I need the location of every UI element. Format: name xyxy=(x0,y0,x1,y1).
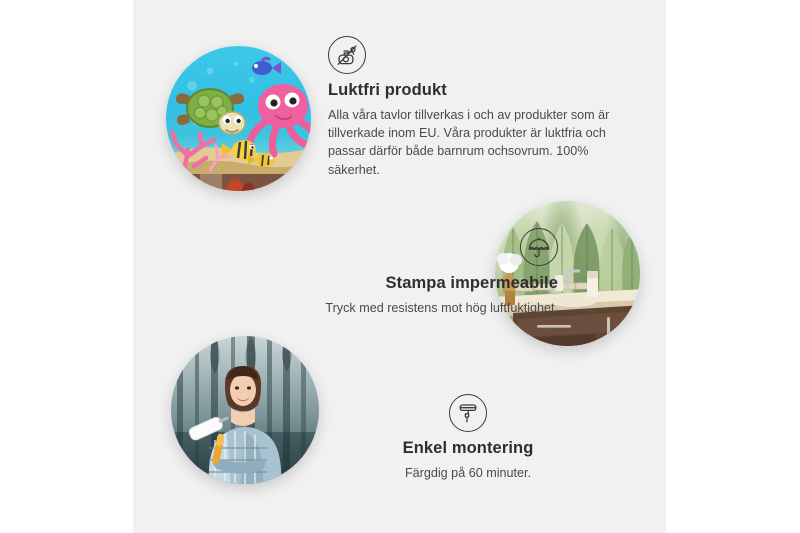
underwater-illustration xyxy=(166,46,311,191)
screenshot-root: Luktfri produkt Alla våra tavlor tillver… xyxy=(0,0,800,533)
feature-waterproof-print: Stampa impermeabile Tryck med resistens … xyxy=(218,228,558,317)
feature-description: Färgdig på 60 minuter. xyxy=(328,464,608,482)
icon-wrap-easy-mounting xyxy=(328,394,608,432)
photo-woman-painter-forest-wallpaper xyxy=(171,336,319,484)
icon-wrap-waterproof xyxy=(218,228,558,266)
forest-painter-illustration xyxy=(171,336,319,484)
product-feature-canvas: Luktfri produkt Alla våra tavlor tillver… xyxy=(133,0,666,533)
feature-title: Enkel montering xyxy=(328,439,608,459)
feature-easy-mounting: Enkel montering Färgdig på 60 minuter. xyxy=(328,394,608,482)
paint-roller-icon xyxy=(449,394,487,432)
feature-description: Alla våra tavlor tillverkas i och av pro… xyxy=(328,106,620,179)
photo-underwater-kids-mural xyxy=(166,46,311,191)
icon-wrap-odour-free xyxy=(328,36,628,74)
no-fragrance-icon xyxy=(328,36,366,74)
umbrella-icon xyxy=(520,228,558,266)
feature-title: Luktfri produkt xyxy=(328,81,628,101)
feature-description: Tryck med resistens mot hög luftfuktighe… xyxy=(218,299,558,317)
feature-title: Stampa impermeabile xyxy=(218,274,558,294)
feature-odour-free: Luktfri produkt Alla våra tavlor tillver… xyxy=(328,36,628,179)
